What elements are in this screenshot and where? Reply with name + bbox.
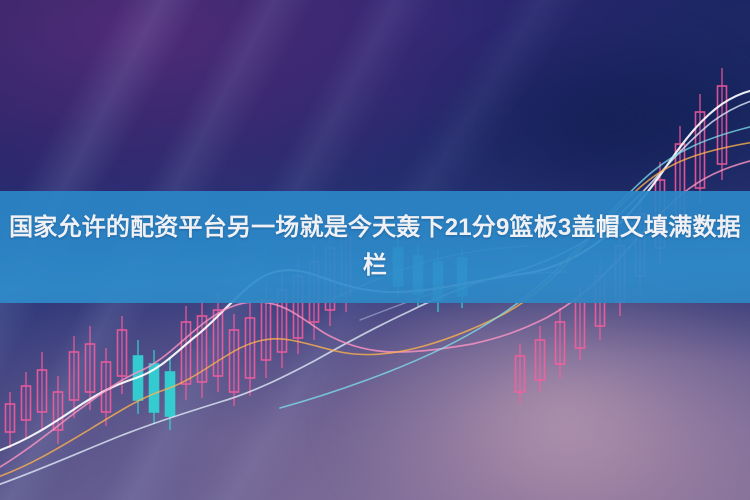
candlestick [38,352,47,430]
candlestick [182,306,191,400]
candlestick [230,314,239,406]
candlestick [198,300,207,398]
candlestick [696,94,705,204]
candlestick [516,344,525,404]
candlestick [246,300,255,396]
candlestick [22,372,31,438]
candlestick [718,68,727,180]
candlestick [536,326,545,392]
candlestick [6,392,15,448]
headline-banner: 国家允许的配资平台另一场就是今天轰下21分9篮板3盖帽又填满数据栏 [0,191,750,303]
candlestick [70,336,79,418]
candle-body [166,372,175,416]
candlestick [54,376,63,444]
headline-text: 国家允许的配资平台另一场就是今天轰下21分9篮板3盖帽又填满数据栏 [8,209,742,285]
banner-graphic: 国家允许的配资平台另一场就是今天轰下21分9篮板3盖帽又填满数据栏 [0,0,750,500]
candlestick [556,308,565,378]
candlestick [214,292,223,392]
headline-banner-inner: 国家允许的配资平台另一场就是今天轰下21分9篮板3盖帽又填满数据栏 [0,191,750,303]
candlestick [102,348,111,426]
